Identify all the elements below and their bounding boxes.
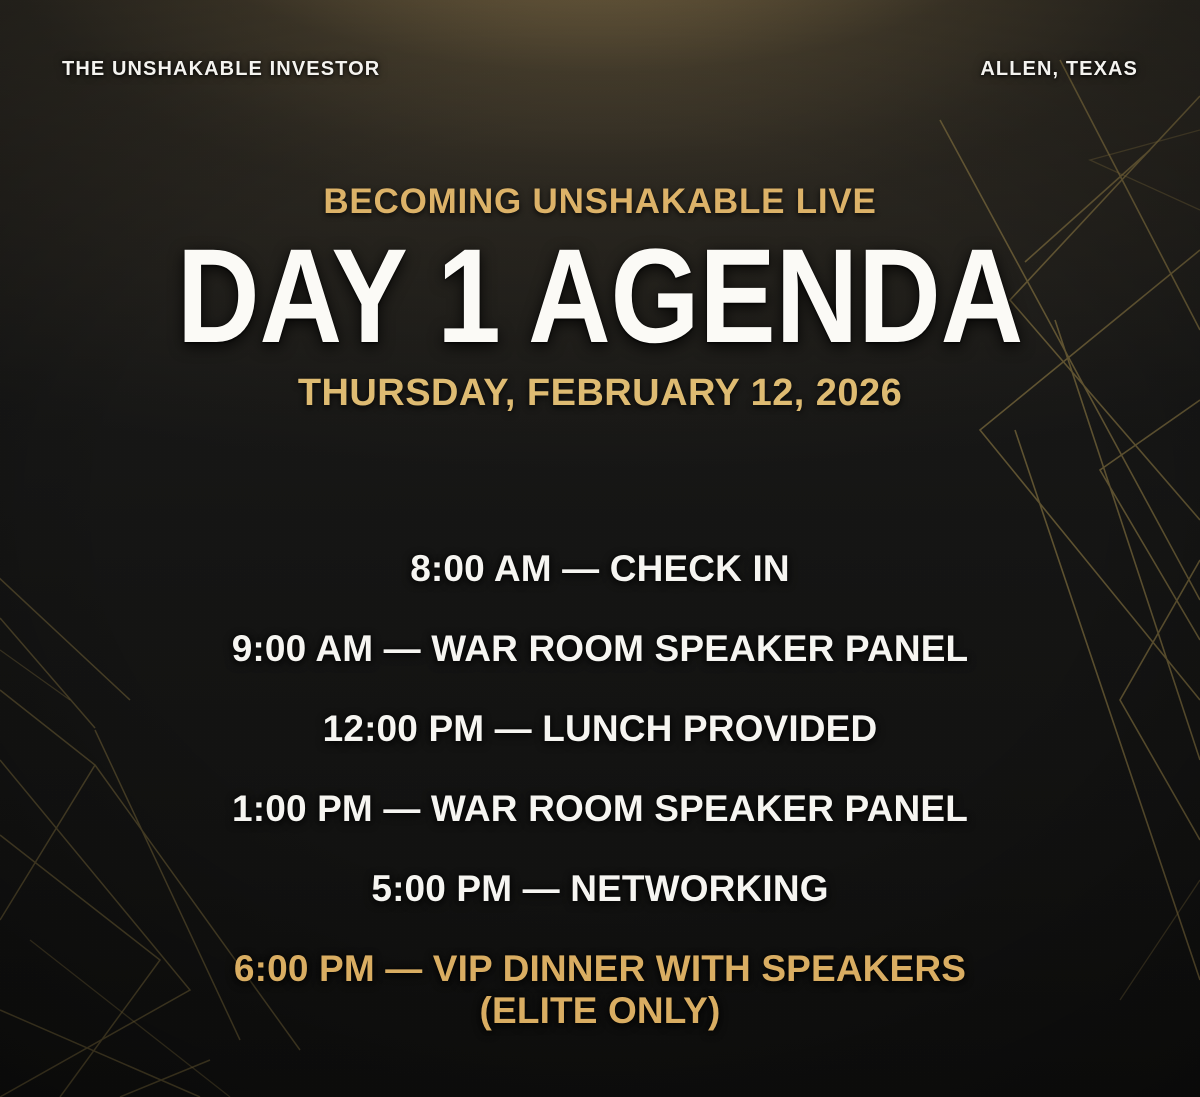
agenda-item-text: 1:00 PM — WAR ROOM SPEAKER PANEL [232,788,968,829]
agenda-item-text: 8:00 AM — CHECK IN [410,548,790,589]
agenda-item-text: 9:00 AM — WAR ROOM SPEAKER PANEL [232,628,969,669]
agenda-item: 9:00 AM — WAR ROOM SPEAKER PANEL [0,628,1200,671]
event-eyebrow: BECOMING UNSHAKABLE LIVE [0,184,1200,219]
agenda-item: 8:00 AM — CHECK IN [0,548,1200,591]
hero-block: BECOMING UNSHAKABLE LIVE DAY 1 AGENDA TH… [0,184,1200,412]
agenda-item: 12:00 PM — LUNCH PROVIDED [0,708,1200,751]
agenda-item: 1:00 PM — WAR ROOM SPEAKER PANEL [0,788,1200,831]
agenda-item-text: 6:00 PM — VIP DINNER WITH SPEAKERS [234,948,966,989]
agenda-item-text: 12:00 PM — LUNCH PROVIDED [323,708,878,749]
agenda-item-note: (ELITE ONLY) [0,990,1200,1033]
agenda-item-text: 5:00 PM — NETWORKING [371,868,828,909]
poster-content: THE UNSHAKABLE INVESTOR ALLEN, TEXAS BEC… [0,0,1200,1097]
event-location: ALLEN, TEXAS [980,58,1138,81]
agenda-poster: THE UNSHAKABLE INVESTOR ALLEN, TEXAS BEC… [0,0,1200,1097]
poster-header: THE UNSHAKABLE INVESTOR ALLEN, TEXAS [0,58,1200,81]
page-title: DAY 1 AGENDA [87,237,1113,358]
agenda-list: 8:00 AM — CHECK IN 9:00 AM — WAR ROOM SP… [0,548,1200,1033]
event-date: THURSDAY, FEBRUARY 12, 2026 [0,374,1200,412]
brand-name: THE UNSHAKABLE INVESTOR [62,58,380,81]
agenda-item: 5:00 PM — NETWORKING [0,868,1200,911]
agenda-item-highlighted: 6:00 PM — VIP DINNER WITH SPEAKERS (ELIT… [0,948,1200,1034]
